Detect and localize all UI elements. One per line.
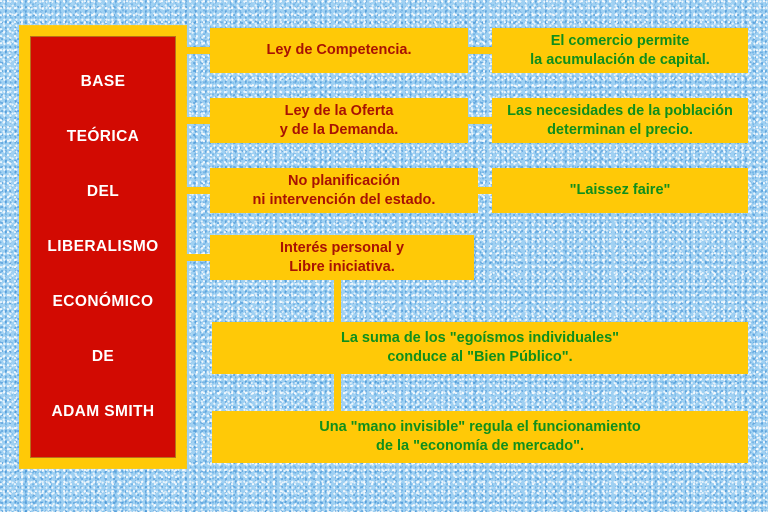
node-no-planificacion-text: No planificación ni intervención del est… [253, 172, 436, 209]
root-line-del: DEL [31, 182, 175, 202]
root-line-economico: ECONÓMICO [31, 292, 175, 312]
text-line: determinan el precio. [507, 121, 733, 140]
node-necesidades-determinan-precio[interactable]: Las necesidades de la población determin… [492, 98, 748, 143]
node-comercio-acumulacion-capital-text: El comercio permite la acumulación de ca… [530, 32, 710, 69]
text-line: "Laissez faire" [570, 181, 671, 200]
node-interes-personal[interactable]: Interés personal y Libre iniciativa. [210, 235, 474, 280]
text-line: Las necesidades de la población [507, 102, 733, 121]
liberalism-concept-map: BASE TEÓRICA DEL LIBERALISMO ECONÓMICO D… [0, 0, 768, 512]
root-line-de: DE [31, 347, 175, 367]
node-mano-invisible-text: Una "mano invisible" regula el funcionam… [319, 418, 641, 455]
root-line-base: BASE [31, 72, 175, 92]
base-teorica-panel-inner: BASE TEÓRICA DEL LIBERALISMO ECONÓMICO D… [30, 36, 176, 458]
node-ley-de-la-oferta-y-demanda[interactable]: Ley de la Oferta y de la Demanda. [210, 98, 468, 143]
root-line-teorica: TEÓRICA [31, 127, 175, 147]
text-line: y de la Demanda. [280, 121, 398, 140]
text-line: El comercio permite [530, 32, 710, 51]
connector-oferta-to-necesidades [464, 117, 494, 124]
node-laissez-faire[interactable]: "Laissez faire" [492, 168, 748, 213]
node-laissez-faire-text: "Laissez faire" [570, 181, 671, 200]
node-necesidades-determinan-precio-text: Las necesidades de la población determin… [507, 102, 733, 139]
base-teorica-panel[interactable]: BASE TEÓRICA DEL LIBERALISMO ECONÓMICO D… [20, 26, 186, 468]
text-line: ni intervención del estado. [253, 191, 436, 210]
text-line: Libre iniciativa. [280, 258, 404, 277]
node-no-planificacion[interactable]: No planificación ni intervención del est… [210, 168, 478, 213]
node-suma-egoismos-individuales[interactable]: La suma de los "egoísmos individuales" c… [212, 322, 748, 374]
node-mano-invisible[interactable]: Una "mano invisible" regula el funcionam… [212, 411, 748, 463]
node-ley-de-competencia[interactable]: Ley de Competencia. [210, 28, 468, 73]
text-line: de la "economía de mercado". [319, 437, 641, 456]
node-ley-de-la-oferta-y-demanda-text: Ley de la Oferta y de la Demanda. [280, 102, 398, 139]
text-line: No planificación [253, 172, 436, 191]
text-line: Una "mano invisible" regula el funcionam… [319, 418, 641, 437]
text-line: Ley de Competencia. [266, 41, 411, 60]
connector-competencia-to-comercio [464, 47, 494, 54]
node-ley-de-competencia-text: Ley de Competencia. [266, 41, 411, 60]
root-line-liberalismo: LIBERALISMO [31, 237, 175, 257]
node-interes-personal-text: Interés personal y Libre iniciativa. [280, 239, 404, 276]
connector-interes-to-suma-egoismos [334, 274, 341, 326]
node-comercio-acumulacion-capital[interactable]: El comercio permite la acumulación de ca… [492, 28, 748, 73]
node-suma-egoismos-individuales-text: La suma de los "egoísmos individuales" c… [341, 329, 619, 366]
text-line: Ley de la Oferta [280, 102, 398, 121]
text-line: la acumulación de capital. [530, 51, 710, 70]
text-line: conduce al "Bien Público". [341, 348, 619, 367]
root-line-adam-smith: ADAM SMITH [31, 402, 175, 422]
text-line: Interés personal y [280, 239, 404, 258]
text-line: La suma de los "egoísmos individuales" [341, 329, 619, 348]
